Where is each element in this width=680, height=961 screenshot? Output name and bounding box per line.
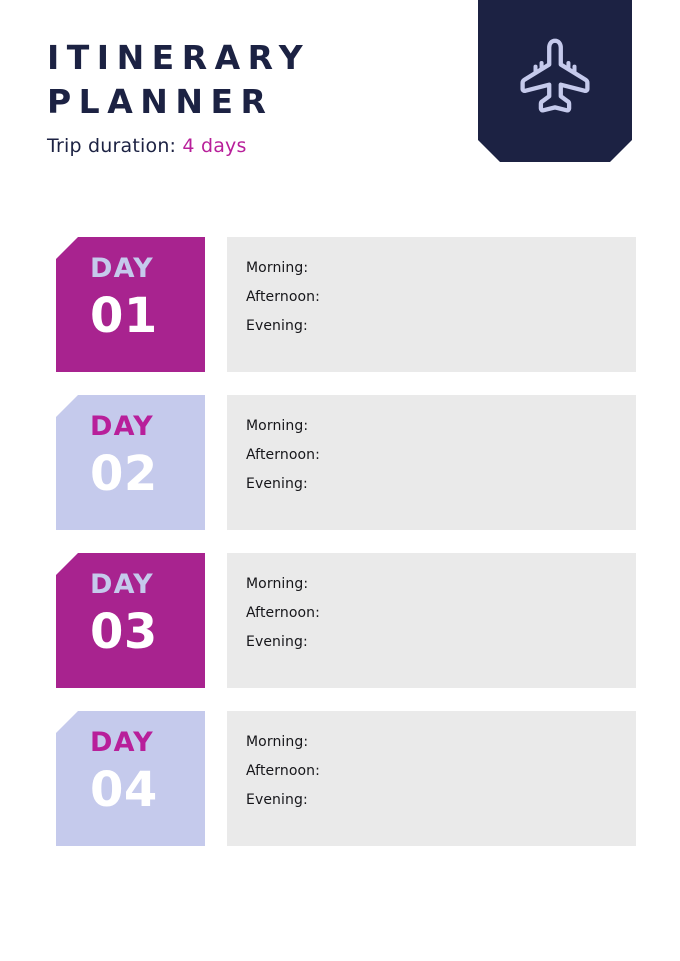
slot-morning: Morning: bbox=[246, 728, 636, 757]
page-title-line-1: ITINERARY bbox=[47, 36, 467, 80]
day-number: 01 bbox=[90, 289, 205, 343]
day-word: DAY bbox=[90, 411, 205, 443]
slot-evening: Evening: bbox=[246, 470, 636, 499]
day-word: DAY bbox=[90, 253, 205, 285]
airplane-icon bbox=[512, 34, 598, 120]
day-row: DAY 02 Morning: Afternoon: Evening: bbox=[0, 395, 680, 530]
day-panel-04[interactable]: Morning: Afternoon: Evening: bbox=[227, 711, 636, 846]
day-row: DAY 03 Morning: Afternoon: Evening: bbox=[0, 553, 680, 688]
day-number: 04 bbox=[90, 763, 205, 817]
day-panel-03[interactable]: Morning: Afternoon: Evening: bbox=[227, 553, 636, 688]
day-number: 02 bbox=[90, 447, 205, 501]
day-word: DAY bbox=[90, 569, 205, 601]
slot-afternoon: Afternoon: bbox=[246, 599, 636, 628]
day-panel-01[interactable]: Morning: Afternoon: Evening: bbox=[227, 237, 636, 372]
slot-afternoon: Afternoon: bbox=[246, 441, 636, 470]
day-number: 03 bbox=[90, 605, 205, 659]
day-card-03[interactable]: DAY 03 bbox=[56, 553, 205, 688]
trip-duration-value: 4 days bbox=[182, 135, 246, 157]
slot-morning: Morning: bbox=[246, 412, 636, 441]
day-row: DAY 04 Morning: Afternoon: Evening: bbox=[0, 711, 680, 846]
day-card-01[interactable]: DAY 01 bbox=[56, 237, 205, 372]
slot-morning: Morning: bbox=[246, 570, 636, 599]
page-title-line-2: PLANNER bbox=[47, 80, 467, 124]
day-card-04[interactable]: DAY 04 bbox=[56, 711, 205, 846]
slot-evening: Evening: bbox=[246, 786, 636, 815]
day-card-02[interactable]: DAY 02 bbox=[56, 395, 205, 530]
day-panel-02[interactable]: Morning: Afternoon: Evening: bbox=[227, 395, 636, 530]
airplane-badge bbox=[478, 0, 632, 162]
slot-evening: Evening: bbox=[246, 312, 636, 341]
trip-duration: Trip duration: 4 days bbox=[47, 135, 467, 157]
title-block: ITINERARY PLANNER Trip duration: 4 days bbox=[47, 36, 467, 157]
day-row: DAY 01 Morning: Afternoon: Evening: bbox=[0, 237, 680, 372]
slot-evening: Evening: bbox=[246, 628, 636, 657]
slot-morning: Morning: bbox=[246, 254, 636, 283]
slot-afternoon: Afternoon: bbox=[246, 283, 636, 312]
slot-afternoon: Afternoon: bbox=[246, 757, 636, 786]
day-rows: DAY 01 Morning: Afternoon: Evening: DAY … bbox=[0, 237, 680, 869]
day-word: DAY bbox=[90, 727, 205, 759]
trip-duration-label: Trip duration: bbox=[47, 135, 176, 157]
document-header: ITINERARY PLANNER Trip duration: 4 days bbox=[0, 0, 680, 200]
